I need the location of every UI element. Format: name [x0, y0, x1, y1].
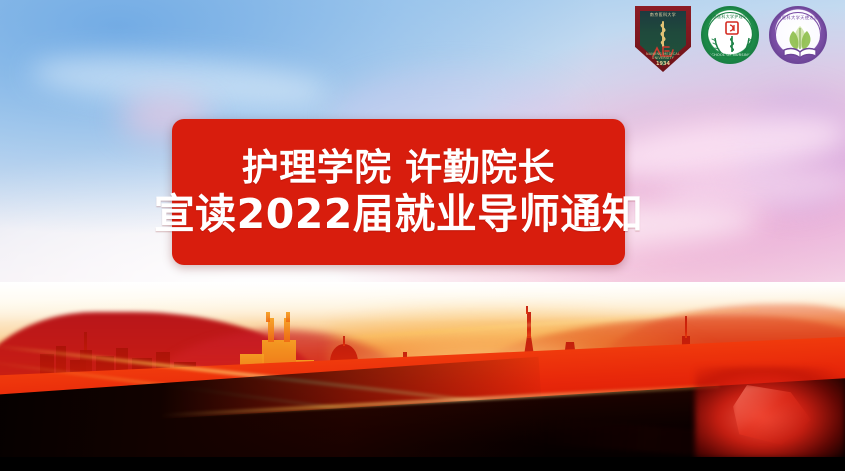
medical-university-crest-logo: 南京医科大学 NANJING MEDICAL UNIVERSITY 1934 — [635, 6, 691, 74]
cloud-wisp — [598, 105, 845, 189]
slide-canvas: 南京医科大学 NANJING MEDICAL UNIVERSITY 1934 南… — [0, 0, 845, 471]
crest-top-text: 南京医科大学 — [635, 12, 691, 18]
green-seal-logo: 南京医科大学护理学院 SCHOOL OF NURSING — [701, 6, 759, 64]
cloud-wisp — [659, 161, 845, 215]
institution-logos: 南京医科大学 NANJING MEDICAL UNIVERSITY 1934 南… — [635, 6, 840, 80]
crest-bottom-text: NANJING MEDICAL UNIVERSITY — [635, 52, 691, 60]
title-line-2: 宣读2022届就业导师通知 — [154, 191, 644, 238]
title-banner: 护理学院 许勤院长 宣读2022届就业导师通知 — [172, 119, 625, 265]
crest-year: 1934 — [635, 61, 691, 67]
sunset-landscape — [0, 282, 845, 471]
seal-bottom-text: SCHOOL OF NURSING — [703, 53, 757, 57]
bottom-black-bar — [0, 457, 845, 471]
title-line-1: 护理学院 许勤院长 — [242, 147, 555, 189]
purple-seal-leaf-book-icon — [771, 8, 827, 64]
purple-seal-logo: 南京医科大学天使志愿队 — [769, 6, 827, 64]
cloud-wisp — [735, 92, 845, 212]
